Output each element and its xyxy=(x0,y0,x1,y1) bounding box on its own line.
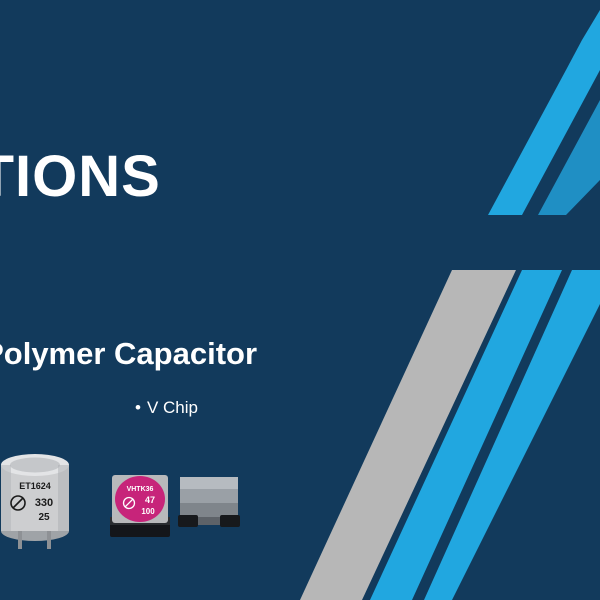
chip-label-value: 47 xyxy=(145,495,155,505)
radial-label-top: ET1624 xyxy=(19,481,51,491)
bullet-marker: • xyxy=(135,398,141,418)
chip-label-top: VHTK36 xyxy=(127,486,154,493)
subtitle: ve Polymer Capacitor xyxy=(0,336,257,372)
radial-label-value: 330 xyxy=(35,497,53,509)
chip-label-volt: 100 xyxy=(141,507,155,516)
list-item-label: V Chip xyxy=(147,398,198,417)
slide-canvas: ATIONS ve Polymer Capacitor ial •V Chip xyxy=(0,0,600,600)
v-chip-polymer-capacitor-top: VHTK36 47 100 xyxy=(108,471,172,543)
list-item-radial: ial xyxy=(0,398,135,418)
bullet-list: ial •V Chip xyxy=(0,398,300,418)
decorative-chevron-upper xyxy=(370,0,600,240)
v-chip-polymer-capacitor-side xyxy=(178,473,240,539)
product-photo-group: ET1624 330 25 VHTK36 47 100 xyxy=(0,440,260,555)
page-title: ATIONS xyxy=(0,148,161,206)
radial-label-volt: 25 xyxy=(38,512,50,523)
decorative-chevron-lower xyxy=(300,270,600,600)
radial-polymer-capacitor-front: ET1624 330 25 xyxy=(0,437,78,549)
list-item-vchip: •V Chip xyxy=(135,398,295,418)
